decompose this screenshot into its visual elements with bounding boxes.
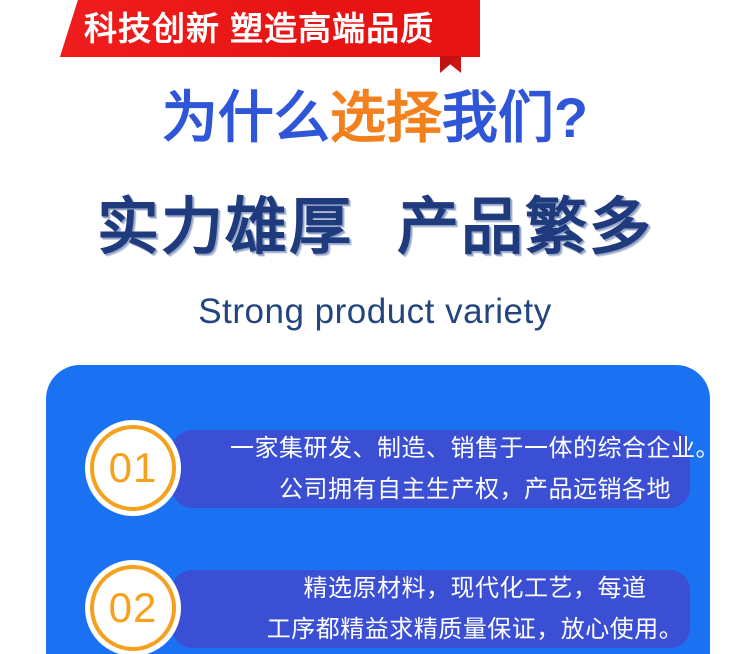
- feature-text-01-line-2: 公司拥有自主生产权，产品远销各地: [226, 469, 724, 510]
- feature-item-01: 01 一家集研发、制造、销售于一体的综合企业。 公司拥有自主生产权，产品远销各地: [46, 420, 710, 528]
- ribbon-slogan: 科技创新 塑造高端品质: [84, 0, 434, 57]
- subheading-right: 产品繁多: [397, 193, 653, 262]
- english-subtitle: Strong product variety: [0, 292, 750, 332]
- feature-number-02: 02: [109, 560, 158, 654]
- feature-number-01: 01: [109, 420, 158, 516]
- headline-part-two: 选择: [330, 86, 442, 149]
- feature-text-01-line-1: 一家集研发、制造、销售于一体的综合企业。: [226, 428, 724, 469]
- feature-number-badge-01: 01: [85, 420, 181, 516]
- feature-text-02-line-1: 精选原材料，现代化工艺，每道: [226, 568, 724, 609]
- headline-part-one: 为什么: [162, 86, 330, 149]
- feature-item-02: 02 精选原材料，现代化工艺，每道 工序都精益求精质量保证，放心使用。: [46, 560, 710, 654]
- subheading-left: 实力雄厚: [97, 193, 353, 262]
- feature-text-02-line-2: 工序都精益求精质量保证，放心使用。: [226, 609, 724, 650]
- headline-part-three: 我们?: [442, 86, 588, 149]
- top-ribbon: 科技创新 塑造高端品质: [0, 0, 750, 80]
- ribbon-fold-icon: [440, 56, 480, 73]
- feature-text-02: 精选原材料，现代化工艺，每道 工序都精益求精质量保证，放心使用。: [226, 568, 724, 650]
- feature-text-01: 一家集研发、制造、销售于一体的综合企业。 公司拥有自主生产权，产品远销各地: [226, 428, 724, 510]
- features-panel: 01 一家集研发、制造、销售于一体的综合企业。 公司拥有自主生产权，产品远销各地…: [46, 365, 710, 654]
- subheading: 实力雄厚产品繁多: [0, 186, 750, 270]
- page-title: 为什么选择我们?: [0, 82, 750, 154]
- feature-number-badge-02: 02: [85, 560, 181, 654]
- marketing-banner-page: 科技创新 塑造高端品质 为什么选择我们? 实力雄厚产品繁多 Strong pro…: [0, 0, 750, 654]
